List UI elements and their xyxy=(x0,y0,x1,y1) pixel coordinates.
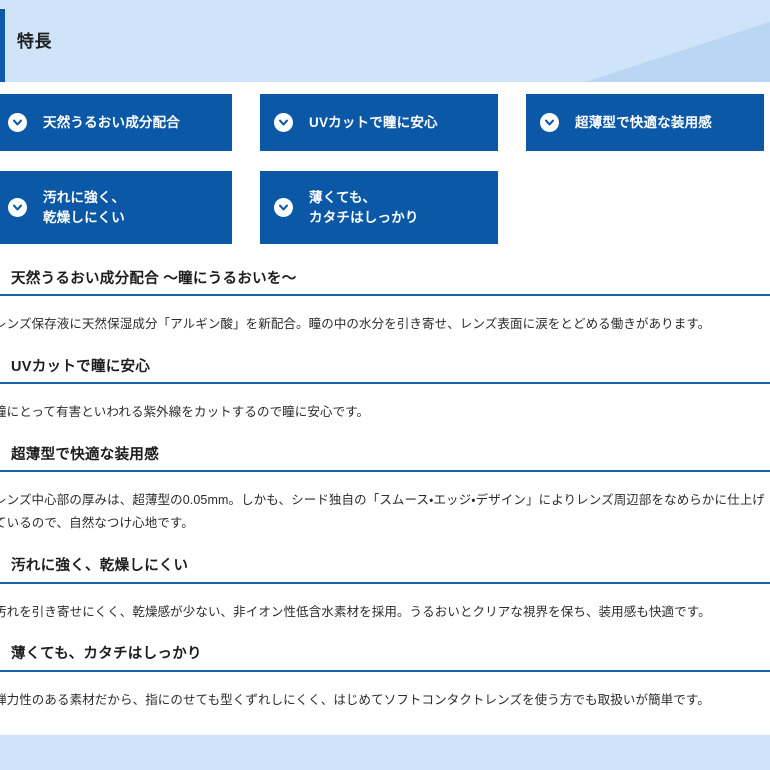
feature-button-label: 天然うるおい成分配合 xyxy=(43,113,180,133)
feature-button-row-1: 天然うるおい成分配合 UVカットで瞳に安心 xyxy=(0,94,770,151)
section-ultra-thin: 超薄型で快適な装用感 レンズ中心部の厚みは、超薄型の0.05mm。しかも、シード… xyxy=(0,440,770,551)
feature-button-label: 汚れに強く、 乾燥しにくい xyxy=(43,188,125,227)
section-body-text: レンズ中心部の厚みは、超薄型の0.05mm。しかも、シード独自の「スムース・エッ… xyxy=(0,472,770,551)
feature-button-natural-moisture[interactable]: 天然うるおい成分配合 xyxy=(0,94,232,151)
header-spacer xyxy=(0,82,770,94)
feature-button-grid: 天然うるおい成分配合 UVカットで瞳に安心 xyxy=(0,94,770,244)
section-heading-text: 天然うるおい成分配合 ～瞳にうるおいを～ xyxy=(11,272,297,287)
feature-button-label: UVカットで瞳に安心 xyxy=(309,113,438,133)
page-header: 特長 xyxy=(0,0,770,82)
section-heading-text: 超薄型で快適な装用感 xyxy=(11,448,159,463)
feature-button-uv-cut[interactable]: UVカットで瞳に安心 xyxy=(260,94,498,151)
feature-page: 特長 天然うるおい成分配合 xyxy=(0,0,770,770)
section-uv-cut: UVカットで瞳に安心 瞳にとって有害といわれる紫外線をカットするので瞳に安心です… xyxy=(0,352,770,440)
footer-band xyxy=(0,735,770,770)
section-stain-resistant: 汚れに強く、乾燥しにくい 汚れを引き寄せにくく、乾燥感が少ない、非イオン性低含水… xyxy=(0,552,770,640)
section-body-text: 瞳にとって有害といわれる紫外線をカットするので瞳に安心です。 xyxy=(0,384,770,440)
feature-button-shape-retention[interactable]: 薄くても、 カタチはしっかり xyxy=(260,171,498,244)
section-shape-retention: 薄くても、カタチはしっかり 弾力性のある素材だから、指にのせても型くずれしにくく… xyxy=(0,640,770,728)
section-heading: 汚れに強く、乾燥しにくい xyxy=(0,552,770,584)
chevron-down-circle-icon xyxy=(540,113,559,132)
section-body-text: 汚れを引き寄せにくく、乾燥感が少ない、非イオン性低含水素材を採用。うるおいとクリ… xyxy=(0,584,770,640)
chevron-down-circle-icon xyxy=(274,113,293,132)
section-heading-text: 汚れに強く、乾燥しにくい xyxy=(11,559,188,574)
header-accent-bar xyxy=(0,9,5,82)
section-heading: 薄くても、カタチはしっかり xyxy=(0,640,770,672)
section-heading-text: 薄くても、カタチはしっかり xyxy=(11,647,202,662)
section-body-text: レンズ保存液に天然保湿成分「アルギン酸」を新配合。瞳の中の水分を引き寄せ、レンズ… xyxy=(0,296,770,352)
header-decorative-wedge xyxy=(585,22,770,82)
feature-button-label: 薄くても、 カタチはしっかり xyxy=(309,188,419,227)
feature-button-label: 超薄型で快適な装用感 xyxy=(575,113,712,133)
chevron-down-circle-icon xyxy=(8,198,27,217)
section-natural-moisture: 天然うるおい成分配合 ～瞳にうるおいを～ レンズ保存液に天然保湿成分「アルギン酸… xyxy=(0,264,770,352)
section-heading: 天然うるおい成分配合 ～瞳にうるおいを～ xyxy=(0,264,770,296)
feature-button-ultra-thin[interactable]: 超薄型で快適な装用感 xyxy=(526,94,764,151)
section-heading-text: UVカットで瞳に安心 xyxy=(11,360,150,375)
section-body-text: 弾力性のある素材だから、指にのせても型くずれしにくく、はじめてソフトコンタクトレ… xyxy=(0,672,770,728)
feature-button-stain-resistant[interactable]: 汚れに強く、 乾燥しにくい xyxy=(0,171,232,244)
section-heading: UVカットで瞳に安心 xyxy=(0,352,770,384)
chevron-down-circle-icon xyxy=(8,113,27,132)
page-title: 特長 xyxy=(17,33,52,50)
chevron-down-circle-icon xyxy=(274,198,293,217)
section-heading: 超薄型で快適な装用感 xyxy=(0,440,770,472)
feature-button-row-2: 汚れに強く、 乾燥しにくい 薄くても、 カタチはしっかり xyxy=(0,171,770,244)
